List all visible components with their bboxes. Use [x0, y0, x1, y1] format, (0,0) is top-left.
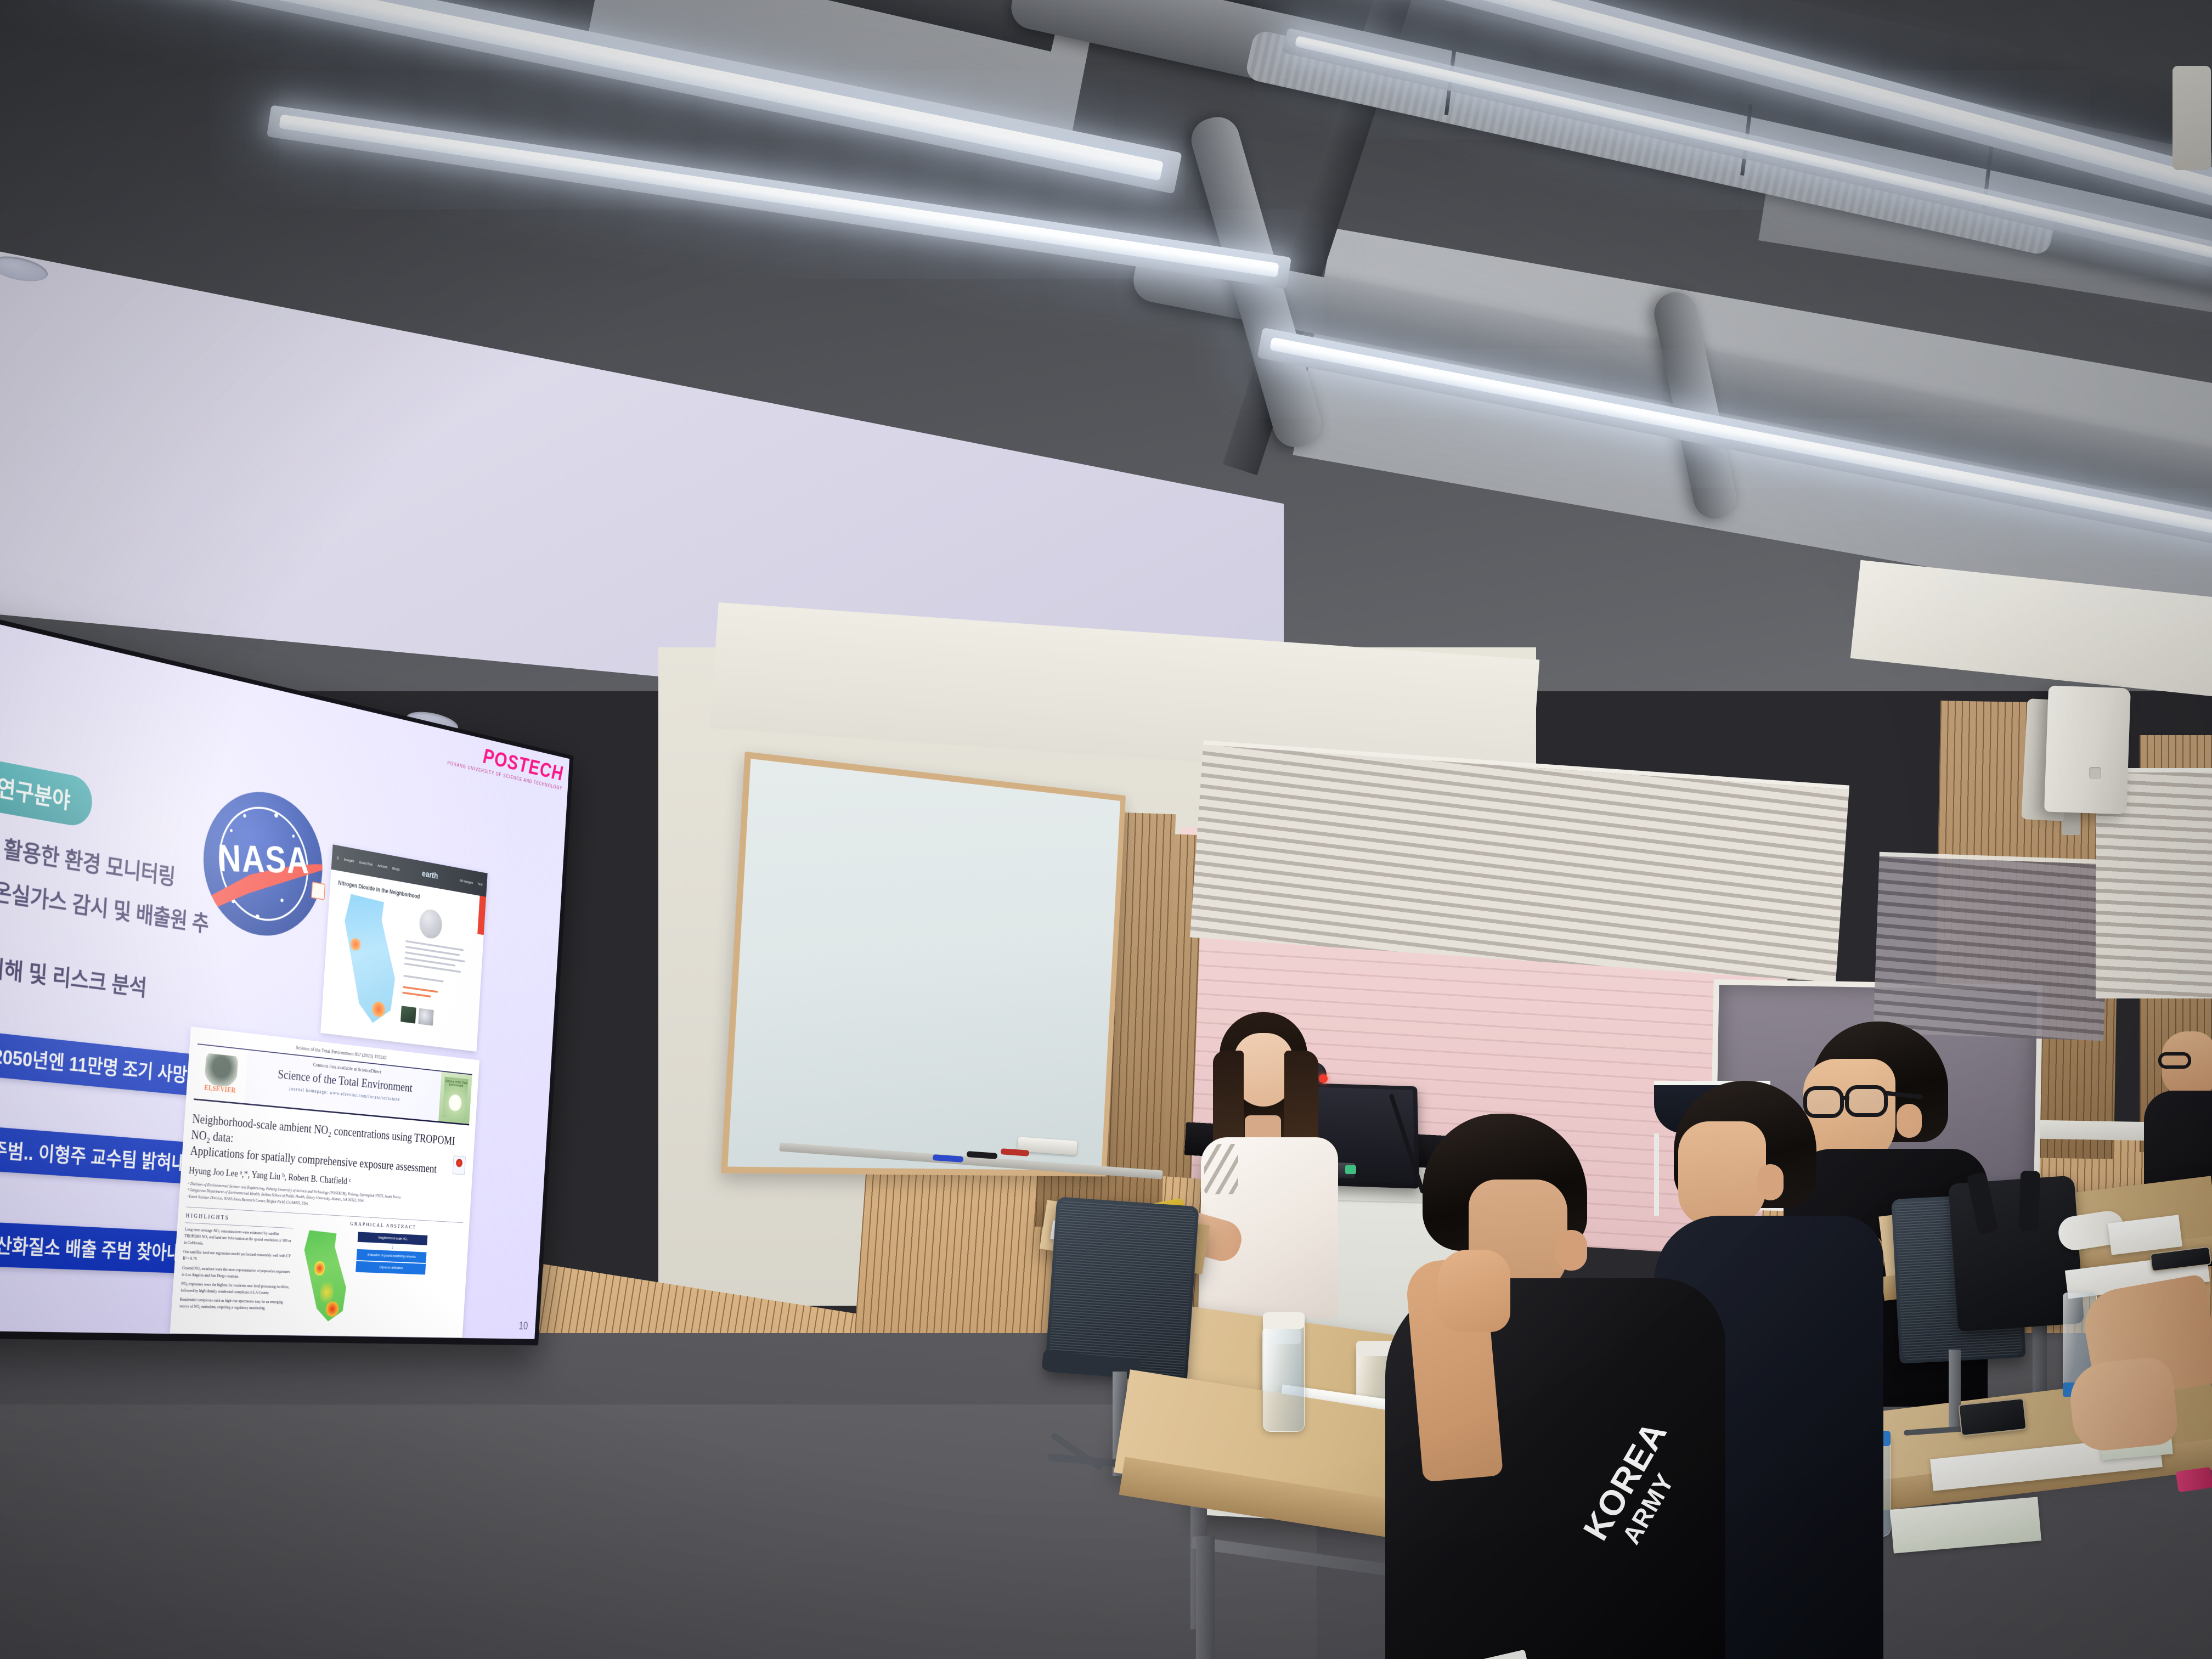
eo-sidebar [400, 904, 471, 1034]
speaker-bracket [2062, 812, 2080, 835]
ceiling-speaker-far-right [2172, 66, 2211, 170]
audience1-hand [1438, 1250, 1510, 1332]
highlight-item: Long-term average NO₂ concentrations wer… [184, 1226, 293, 1250]
window-blind-right[interactable] [1873, 852, 2109, 1041]
eo-side-accent [477, 896, 486, 935]
graphical-abstract-column: GRAPHICAL ABSTRACT Neighborhood-scale NO… [294, 1218, 463, 1326]
audience1-ear [1555, 1230, 1587, 1271]
bottle-cap-front-left [1263, 1312, 1305, 1329]
article-lower-columns: HIGHLIGHTS Long-term average NO₂ concent… [179, 1206, 464, 1325]
journal-article-screenshot: Science of the Total Environment 857 (20… [170, 1026, 479, 1338]
crossmark-icon[interactable] [453, 1155, 466, 1175]
slide-section-pill: 중점 연구분야 [0, 744, 93, 829]
audience5-eyeglasses [2158, 1052, 2191, 1069]
presenter [1193, 1012, 1374, 1319]
eo-nav-images[interactable]: Images [344, 857, 354, 863]
presenter-shirt-stripes [1204, 1144, 1238, 1194]
ga-flow-diagram: Neighborhood-scale NO₂ ↓ Evaluation of g… [356, 1232, 427, 1274]
eo-globe-thumbnail [419, 908, 443, 940]
earth-observatory-screenshot: ⚲ Images Good Bye Articles Blogs earth A… [320, 844, 488, 1052]
water-bottle-front-left[interactable] [1263, 1317, 1305, 1432]
eo-nav-articles[interactable]: Articles [377, 863, 387, 869]
audience-member-right-hands [2071, 1284, 2212, 1591]
image-placeholder-icon [311, 882, 325, 900]
journal-cover-caption: Science of the Total Environment [442, 1077, 468, 1119]
highlight-item: Ground NO₂ monitors were the most repres… [182, 1265, 291, 1282]
eo-link-line-1[interactable] [403, 986, 438, 992]
whiteboard[interactable] [721, 752, 1126, 1177]
highlight-item: Residential complexes such as high-rise … [179, 1296, 289, 1312]
seminar-room-scene: 경 구실) 중점 연구분야 공위성을 활용한 환경 모니터링 기오염과 온실가스… [0, 0, 2212, 1659]
eo-text-line-1 [405, 940, 464, 951]
eo-link-line-2[interactable] [402, 992, 431, 998]
eo-navbar: ⚲ Images Good Bye Articles Blogs earth A… [331, 844, 488, 897]
ga-flow-box-2: Evaluation of ground monitoring networks [357, 1249, 427, 1263]
ga-california-no2-map [297, 1230, 349, 1322]
journal-masthead: ELSEVIER Contents lists available at Sci… [194, 1043, 472, 1125]
backpack-strap-right [2018, 1170, 2040, 1231]
highlights-column: HIGHLIGHTS Long-term average NO₂ concent… [179, 1212, 294, 1323]
audience-member-front: KOREA ARMY [1385, 1114, 1725, 1659]
nasa-logo: NASA [199, 781, 326, 944]
ga-flow-box-3: Exposure attribution [356, 1261, 426, 1274]
highlight-item: NO₂ exposures were the highest for resid… [180, 1280, 290, 1297]
eo-link-all-images[interactable]: All Images [460, 878, 473, 885]
eo-nav-blogs[interactable]: Blogs [392, 866, 400, 871]
elsevier-tree-icon [204, 1053, 238, 1087]
eo-nav-goodbye[interactable]: Good Bye [359, 860, 373, 866]
korean-flag-patch [1475, 1650, 1534, 1659]
wall-speaker [2044, 685, 2131, 814]
highlight-item: Our satellite–land use regression model … [183, 1249, 292, 1266]
audience4-hand [2067, 1356, 2180, 1454]
highlights-list: Long-term average NO₂ concentrations wer… [179, 1222, 294, 1312]
eo-brand: earth [422, 868, 438, 881]
journal-cover-thumbnail: Science of the Total Environment [438, 1071, 472, 1124]
postech-logo: POSTECH POHANG UNIVERSITY OF SCIENCE AND… [447, 735, 564, 792]
nasa-wordmark: NASA [203, 836, 323, 883]
eo-link-text[interactable]: Text [477, 882, 483, 887]
graphical-abstract-figure: Neighborhood-scale NO₂ ↓ Evaluation of g… [294, 1227, 462, 1325]
speaker-logo-badge [2089, 767, 2101, 779]
eo-text-line-6 [403, 975, 443, 983]
slide-page-number: 10 [518, 1320, 528, 1333]
chair-left-mesh [1048, 1200, 1196, 1379]
projection-screen[interactable]: 경 구실) 중점 연구분야 공위성을 활용한 환경 모니터링 기오염과 온실가스… [0, 611, 574, 1346]
slide-news-quote-1: 유지하면 2050년엔 11만명 조기 사망” [0, 1020, 215, 1098]
slide-bullet-3: 경 재해 피해 및 리스크 분석 [0, 940, 148, 1002]
desk-front-left-leg-1 [1196, 1536, 1215, 1659]
screen-bezel: 경 구실) 중점 연구분야 공위성을 활용한 환경 모니터링 기오염과 온실가스… [0, 611, 574, 1346]
backpack-strap-left [1966, 1172, 1998, 1235]
ga-hotspot-la [324, 1301, 341, 1317]
eo-california-map [335, 893, 400, 1025]
eo-search-icon[interactable]: ⚲ [336, 856, 339, 861]
audience2-ear [1757, 1164, 1784, 1200]
elsevier-logo: ELSEVIER [194, 1045, 248, 1103]
chair-right-post [1949, 1350, 1961, 1432]
presentation-slide: 경 구실) 중점 연구분야 공위성을 활용한 환경 모니터링 기오염과 온실가스… [0, 616, 569, 1339]
audience3-ear [1897, 1104, 1922, 1138]
eo-thumbnail-2[interactable] [418, 1008, 433, 1026]
eo-text-line-3 [405, 951, 465, 962]
eo-thumbnail-1[interactable] [400, 1006, 416, 1023]
